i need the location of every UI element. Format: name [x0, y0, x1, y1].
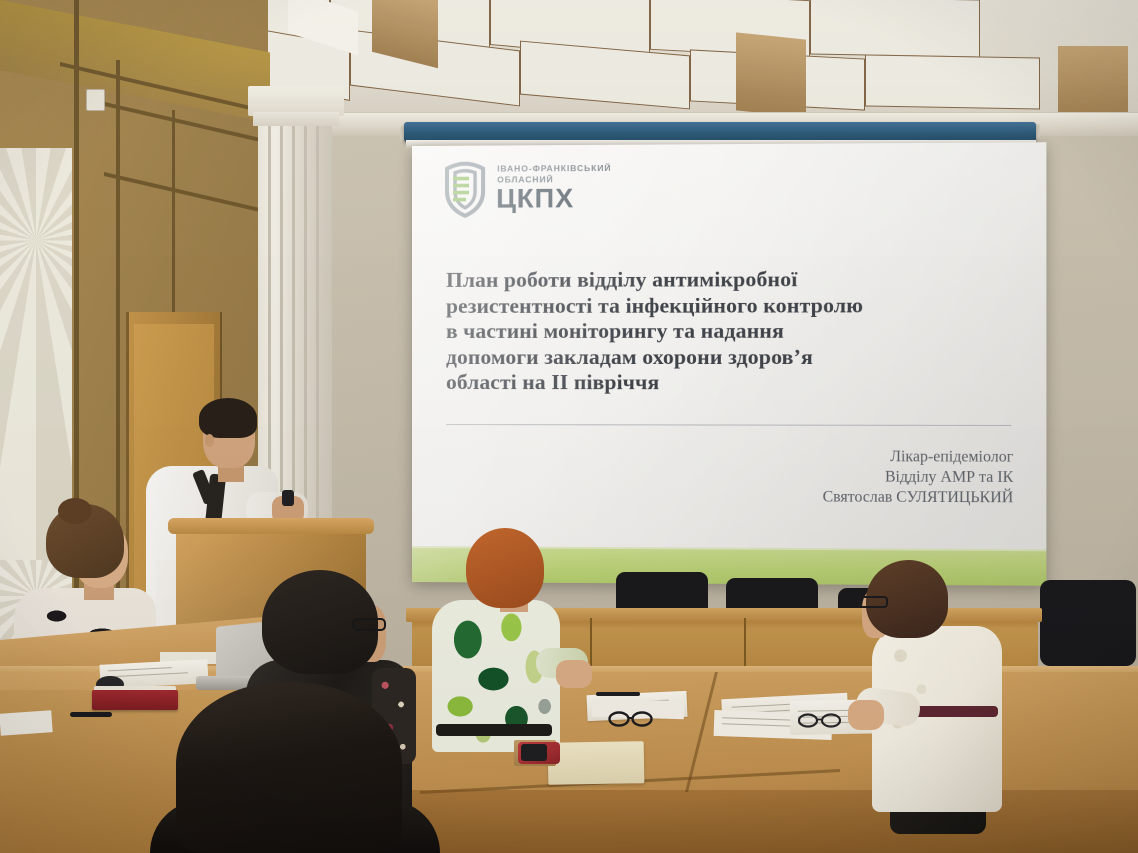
light-switch[interactable] [86, 89, 105, 111]
eyeglasses[interactable] [798, 712, 842, 729]
logo-acronym: ЦКПХ [496, 183, 574, 214]
presenter-department: Відділу АМР та ІК [593, 467, 1014, 489]
slide-divider-rule [446, 424, 1011, 426]
chair-back [1040, 580, 1136, 666]
pen[interactable] [70, 712, 112, 717]
presenter-role: Лікар-епідеміолог [593, 446, 1014, 467]
slide-title-line: в частині моніторингу та надання [446, 318, 974, 344]
organization-logo: ІВАНО-ФРАНКІВСЬКИЙ ОБЛАСНИЙ ЦКПХ [442, 158, 735, 222]
ceiling-tile [520, 41, 690, 110]
attendee-left-hair-bun [58, 498, 92, 524]
slide-title-line: допомоги закладам охорони здоров’я [446, 344, 974, 370]
eyeglasses[interactable] [608, 710, 654, 728]
presenter-ear [205, 434, 214, 447]
eyeglasses [858, 596, 888, 608]
presentation-clicker[interactable] [282, 490, 294, 506]
presenter-hair [199, 398, 257, 438]
projection-screen: ІВАНО-ФРАНКІВСЬКИЙ ОБЛАСНИЙ ЦКПХ План ро… [412, 142, 1046, 586]
presenter-name: Святослав СУЛЯТИЦЬКИЙ [593, 487, 1014, 509]
phone-screen[interactable] [521, 744, 547, 761]
logo-org-line1: ІВАНО-ФРАНКІВСЬКИЙ [497, 163, 611, 174]
attendee-white-hand [848, 700, 884, 730]
slide-title: План роботи відділу антимікробної резист… [446, 267, 974, 396]
pen[interactable] [596, 692, 640, 696]
slide-title-line: області на II півріччя [446, 370, 974, 396]
manila-folder[interactable] [548, 741, 645, 785]
ceiling-tile [865, 54, 1040, 109]
ceiling-beam-panel [1058, 46, 1128, 118]
column-flute [316, 112, 319, 582]
slide-title-line: резистентності та інфекційного контролю [446, 292, 974, 319]
red-notebook[interactable] [92, 690, 178, 710]
slide-title-line: План роботи відділу антимікробної [446, 267, 974, 294]
attendee-foreground-hair [176, 682, 402, 853]
podium-top [168, 518, 374, 534]
column-capital-band [253, 112, 339, 126]
ceiling-tile [810, 0, 980, 57]
shield-icon [442, 162, 488, 218]
projector-screen-roller [404, 122, 1036, 142]
slide-presenter-block: Лікар-епідеміолог Відділу АМР та ІК Свят… [593, 446, 1014, 508]
attendee-green-hand [556, 660, 592, 688]
meeting-room-photo: ІВАНО-ФРАНКІВСЬКИЙ ОБЛАСНИЙ ЦКПХ План ро… [0, 0, 1138, 853]
ceiling-beam-panel [736, 32, 806, 117]
attendee-green-hair [466, 528, 544, 608]
paper-document[interactable] [0, 710, 53, 736]
eyeglasses [352, 618, 386, 631]
attendee-green-belt [436, 724, 552, 736]
